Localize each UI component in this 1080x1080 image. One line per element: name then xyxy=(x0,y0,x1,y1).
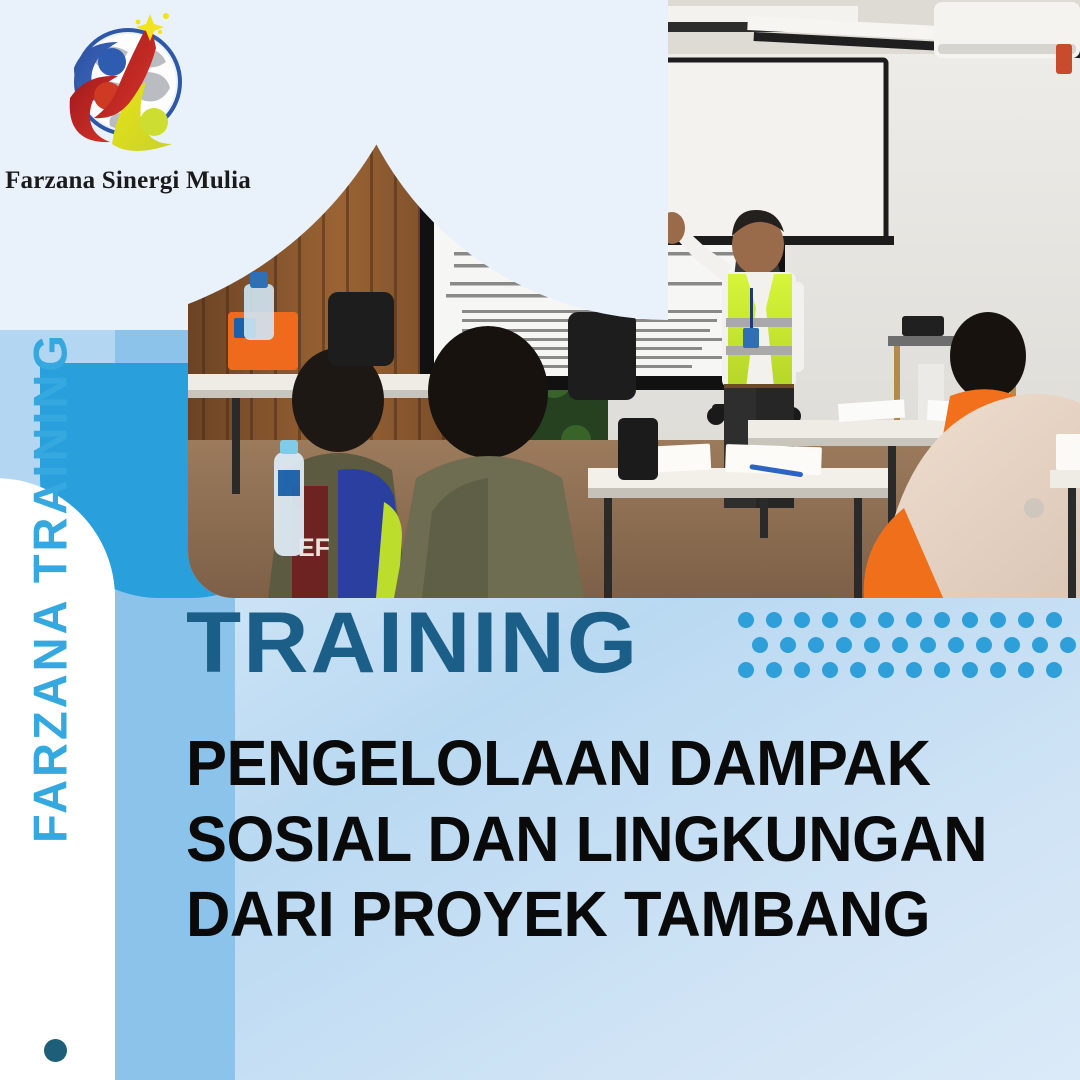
grid-dot xyxy=(1032,637,1048,653)
grid-dot xyxy=(1046,612,1062,628)
headline-block: TRAINING PENGELOLAAN DAMPAK SOSIAL DAN L… xyxy=(186,600,986,953)
subject-title-line-2: SOSIAL DAN LINGKUNGAN xyxy=(186,802,954,878)
grid-dot xyxy=(1046,662,1062,678)
kicker-training: TRAINING xyxy=(186,600,1026,686)
poster-canvas: EF xyxy=(0,0,1080,1080)
brand-lockup: Farzana Sinergi Mulia xyxy=(0,10,256,195)
subject-title: PENGELOLAAN DAMPAK SOSIAL DAN LINGKUNGAN… xyxy=(186,726,954,953)
grid-dot xyxy=(1060,637,1076,653)
subject-title-line-3: DARI PROYEK TAMBANG xyxy=(186,877,954,953)
globe-people-logo-icon xyxy=(54,10,202,158)
subject-title-line-1: PENGELOLAAN DAMPAK xyxy=(186,726,954,802)
bullet-dot-icon xyxy=(44,1039,67,1062)
brand-name: Farzana Sinergi Mulia xyxy=(0,167,256,195)
